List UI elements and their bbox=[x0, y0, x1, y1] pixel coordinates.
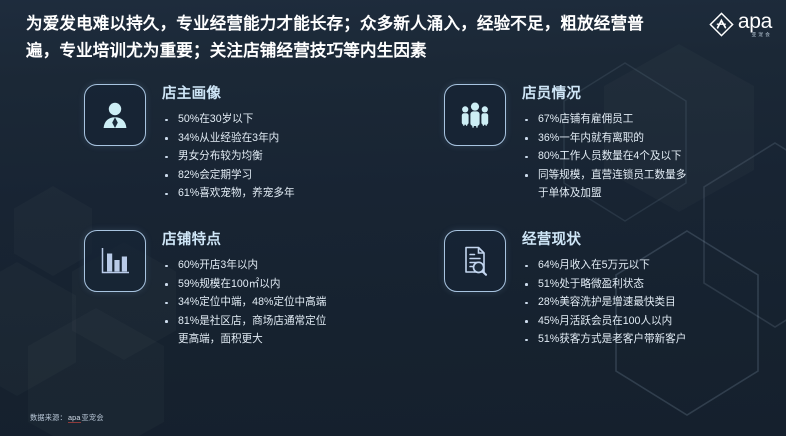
person-icon bbox=[84, 84, 146, 146]
bullet-list: 60%开店3年以内 59%规模在100㎡以内 34%定位中端，48%定位中高端 … bbox=[162, 256, 326, 349]
page-title: 为爱发电难以持久，专业经营能力才能长存；众多新人涌入，经验不足，粗放经营普遍，专… bbox=[26, 11, 674, 65]
list-item: 82%会定期学习 bbox=[162, 166, 295, 185]
list-item: 67%店铺有雇佣员工 bbox=[522, 110, 686, 129]
list-item: 51%获客方式是老客户带新客户 bbox=[522, 330, 686, 349]
logo-wordmark: apa bbox=[738, 12, 772, 32]
list-item: 81%是社区店，商场店通常定位 更高端，面积更大 bbox=[162, 312, 326, 349]
list-item: 男女分布较为均衡 bbox=[162, 147, 295, 166]
document-search-icon bbox=[444, 230, 506, 292]
list-item: 60%开店3年以内 bbox=[162, 256, 326, 275]
list-item: 61%喜欢宠物，养宠多年 bbox=[162, 184, 295, 203]
info-blocks-grid: 店主画像 50%在30岁以下 34%从业经验在3年内 男女分布较为均衡 82%会… bbox=[0, 84, 786, 384]
block-body: 经营现状 64%月收入在5万元以下 51%处于略微盈利状态 28%美容洗护是增速… bbox=[522, 230, 686, 349]
info-block-owner-profile: 店主画像 50%在30岁以下 34%从业经验在3年内 男女分布较为均衡 82%会… bbox=[84, 84, 295, 203]
list-item: 45%月活跃会员在100人以内 bbox=[522, 312, 686, 331]
footer-brand-suffix: 亚宠会 bbox=[82, 413, 104, 423]
list-item: 59%规模在100㎡以内 bbox=[162, 275, 326, 294]
list-item: 64%月收入在5万元以下 bbox=[522, 256, 686, 275]
people-group-icon bbox=[444, 84, 506, 146]
list-item: 34%定位中端，48%定位中高端 bbox=[162, 293, 326, 312]
header: 为爱发电难以持久，专业经营能力才能长存；众多新人涌入，经验不足，粗放经营普遍，专… bbox=[0, 0, 786, 78]
bullet-list: 64%月收入在5万元以下 51%处于略微盈利状态 28%美容洗护是增速最快类目 … bbox=[522, 256, 686, 349]
block-body: 店主画像 50%在30岁以下 34%从业经验在3年内 男女分布较为均衡 82%会… bbox=[162, 84, 295, 203]
list-item: 80%工作人员数量在4个及以下 bbox=[522, 147, 686, 166]
data-source-footer: 数据来源： apa 亚宠会 bbox=[30, 413, 104, 423]
apa-diamond-icon bbox=[709, 12, 734, 37]
apa-logo: apa 亚宠会 bbox=[709, 12, 772, 38]
block-title: 店主画像 bbox=[162, 85, 295, 103]
info-block-store-features: 店铺特点 60%开店3年以内 59%规模在100㎡以内 34%定位中端，48%定… bbox=[84, 230, 326, 349]
list-item: 51%处于略微盈利状态 bbox=[522, 275, 686, 294]
block-title: 店员情况 bbox=[522, 85, 686, 103]
list-item: 34%从业经验在3年内 bbox=[162, 129, 295, 148]
logo-subtitle: 亚宠会 bbox=[738, 33, 772, 38]
list-item: 36%一年内就有离职的 bbox=[522, 129, 686, 148]
list-item: 50%在30岁以下 bbox=[162, 110, 295, 129]
block-body: 店员情况 67%店铺有雇佣员工 36%一年内就有离职的 80%工作人员数量在4个… bbox=[522, 84, 686, 203]
block-title: 经营现状 bbox=[522, 231, 686, 249]
footer-label: 数据来源： bbox=[30, 413, 67, 423]
bullet-list: 67%店铺有雇佣员工 36%一年内就有离职的 80%工作人员数量在4个及以下 同… bbox=[522, 110, 686, 203]
block-body: 店铺特点 60%开店3年以内 59%规模在100㎡以内 34%定位中端，48%定… bbox=[162, 230, 326, 349]
bar-chart-icon bbox=[84, 230, 146, 292]
list-item: 28%美容洗护是增速最快类目 bbox=[522, 293, 686, 312]
footer-brand: apa bbox=[68, 413, 81, 423]
bullet-list: 50%在30岁以下 34%从业经验在3年内 男女分布较为均衡 82%会定期学习 … bbox=[162, 110, 295, 203]
info-block-staff-situation: 店员情况 67%店铺有雇佣员工 36%一年内就有离职的 80%工作人员数量在4个… bbox=[444, 84, 686, 203]
slide-root: 为爱发电难以持久，专业经营能力才能长存；众多新人涌入，经验不足，粗放经营普遍，专… bbox=[0, 0, 786, 436]
list-item: 同等规模，直营连锁员工数量多 于单体及加盟 bbox=[522, 166, 686, 203]
logo-text: apa 亚宠会 bbox=[738, 12, 772, 38]
block-title: 店铺特点 bbox=[162, 231, 326, 249]
info-block-business-status: 经营现状 64%月收入在5万元以下 51%处于略微盈利状态 28%美容洗护是增速… bbox=[444, 230, 686, 349]
